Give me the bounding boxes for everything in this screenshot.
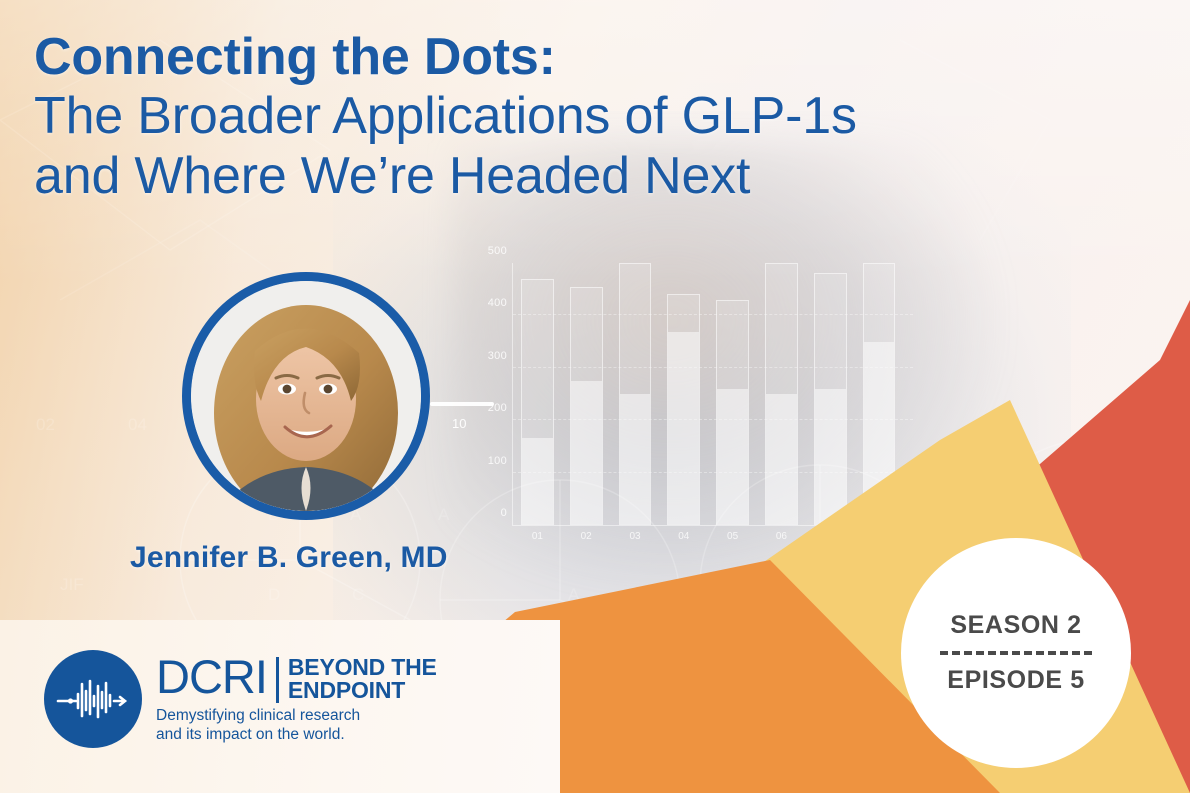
speaker-name: Jennifer B. Green, MD: [130, 541, 448, 575]
logo-text: DCRI BEYOND THE ENDPOINT Demystifying cl…: [156, 650, 437, 745]
logo-tagline: Demystifying clinical research and its i…: [156, 706, 437, 745]
logo-subbrand-line-2: ENDPOINT: [288, 679, 437, 702]
badge-divider: [940, 651, 1092, 655]
podcast-cover: 02 04 JIF B A D C A A 0 100: [0, 0, 1190, 793]
logo-wordmark-row: DCRI BEYOND THE ENDPOINT: [156, 654, 437, 703]
logo-divider: [276, 657, 279, 703]
season-episode-badge: SEASON 2 EPISODE 5: [901, 538, 1131, 768]
logo-subbrand: BEYOND THE ENDPOINT: [288, 654, 437, 703]
title-line-3: and Where We’re Headed Next: [34, 147, 1084, 206]
page-title: Connecting the Dots: The Broader Applica…: [34, 28, 1084, 206]
logo-wordmark: DCRI: [156, 654, 267, 699]
waveform-icon: [44, 650, 142, 748]
logo-subbrand-line-1: BEYOND THE: [288, 656, 437, 679]
logo-tagline-line-1: Demystifying clinical research: [156, 706, 437, 725]
title-line-1: Connecting the Dots:: [34, 28, 1084, 87]
speaker-photo: [191, 281, 421, 511]
title-line-2: The Broader Applications of GLP-1s: [34, 87, 1084, 146]
season-label: SEASON 2: [950, 611, 1081, 640]
logo-tagline-line-2: and its impact on the world.: [156, 725, 437, 744]
speaker-avatar: [182, 272, 430, 520]
episode-label: EPISODE 5: [947, 666, 1084, 695]
dcri-logo: DCRI BEYOND THE ENDPOINT Demystifying cl…: [44, 650, 437, 748]
